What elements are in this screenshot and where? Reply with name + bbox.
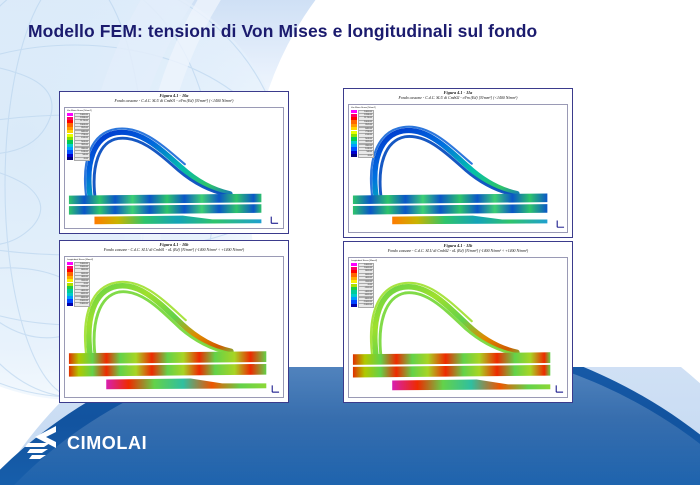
legend-value: -1400.00 [74, 302, 90, 306]
presentation-slide: Modello FEM: tensioni di Von Mises e lon… [0, 0, 700, 485]
legend-color-swatch [351, 304, 357, 307]
legend-entries: 1400.001000.00800.00600.00400.00200.000.… [67, 262, 101, 306]
fem-plot-area: Von Mises Stress [N/mm2] 1400.001288.001… [64, 107, 284, 229]
figure-panel-bottom-right[interactable]: Figura 4.1 - 11b Fondo cassone - C.d.C. … [343, 241, 573, 403]
legend-color-swatch [67, 303, 73, 306]
legend-entries: 1400.001288.001176.001064.00952.00840.00… [351, 110, 385, 157]
legend-row: -1400.00 [351, 304, 385, 307]
figure-panel-top-left[interactable]: Figura 4.1 - 10a Fondo cassone - C.d.C. … [59, 91, 289, 234]
legend-row: 0.00 [67, 157, 101, 160]
figure-caption-block: Figura 4.1 - 11b Fondo cassone - C.d.C. … [344, 242, 572, 253]
legend-value: 0.00 [74, 157, 90, 161]
cimolai-chevron-icon [22, 423, 62, 463]
fem-plot-area: Longitudinal Stress [N/mm2] 1400.001000.… [348, 257, 568, 398]
figure-panel-top-right[interactable]: Figura 4.1 - 11a Fondo cassone - C.d.C. … [343, 88, 573, 238]
fem-plot-area: Longitudinal Stress [N/mm2] 1400.001000.… [64, 256, 284, 398]
figure-description: Fondo cassone - C.d.C. SLU di Cmb01 - σL… [66, 248, 282, 252]
figure-description: Fondo cassone - C.d.C. SLU di Cmb01 - σV… [66, 99, 282, 103]
fem-plot-area: Von Mises Stress [N/mm2] 1400.001288.001… [348, 104, 568, 233]
legend-entries: 1400.001000.00800.00600.00400.00200.000.… [351, 263, 385, 307]
legend-value: 0.00 [358, 154, 374, 158]
figure-caption-block: Figura 4.1 - 11a Fondo cassone - C.d.C. … [344, 89, 572, 100]
legend-value: -1400.00 [358, 303, 374, 307]
legend-color-swatch [67, 157, 73, 160]
company-logo[interactable]: CIMOLAI [22, 423, 147, 463]
legend-row: -1400.00 [67, 303, 101, 306]
color-legend: Longitudinal Stress [N/mm2] 1400.001000.… [67, 259, 101, 306]
color-legend: Von Mises Stress [N/mm2] 1400.001288.001… [351, 107, 385, 158]
figure-panel-bottom-left[interactable]: Figura 4.1 - 10b Fondo cassone - C.d.C. … [59, 240, 289, 403]
legend-entries: 1400.001288.001176.001064.00952.00840.00… [67, 113, 101, 160]
page-title: Modello FEM: tensioni di Von Mises e lon… [28, 21, 537, 42]
figure-caption-block: Figura 4.1 - 10b Fondo cassone - C.d.C. … [60, 241, 288, 252]
figure-caption-block: Figura 4.1 - 10a Fondo cassone - C.d.C. … [60, 92, 288, 103]
legend-row: 0.00 [351, 154, 385, 157]
figure-description: Fondo cassone - C.d.C. SLU di Cmb02 - σV… [350, 96, 566, 100]
legend-color-swatch [351, 154, 357, 157]
color-legend: Von Mises Stress [N/mm2] 1400.001288.001… [67, 110, 101, 161]
logo-text: CIMOLAI [67, 433, 147, 454]
color-legend: Longitudinal Stress [N/mm2] 1400.001000.… [351, 260, 385, 307]
figure-description: Fondo cassone - C.d.C. SLU di Cmb02 - σL… [350, 249, 566, 253]
